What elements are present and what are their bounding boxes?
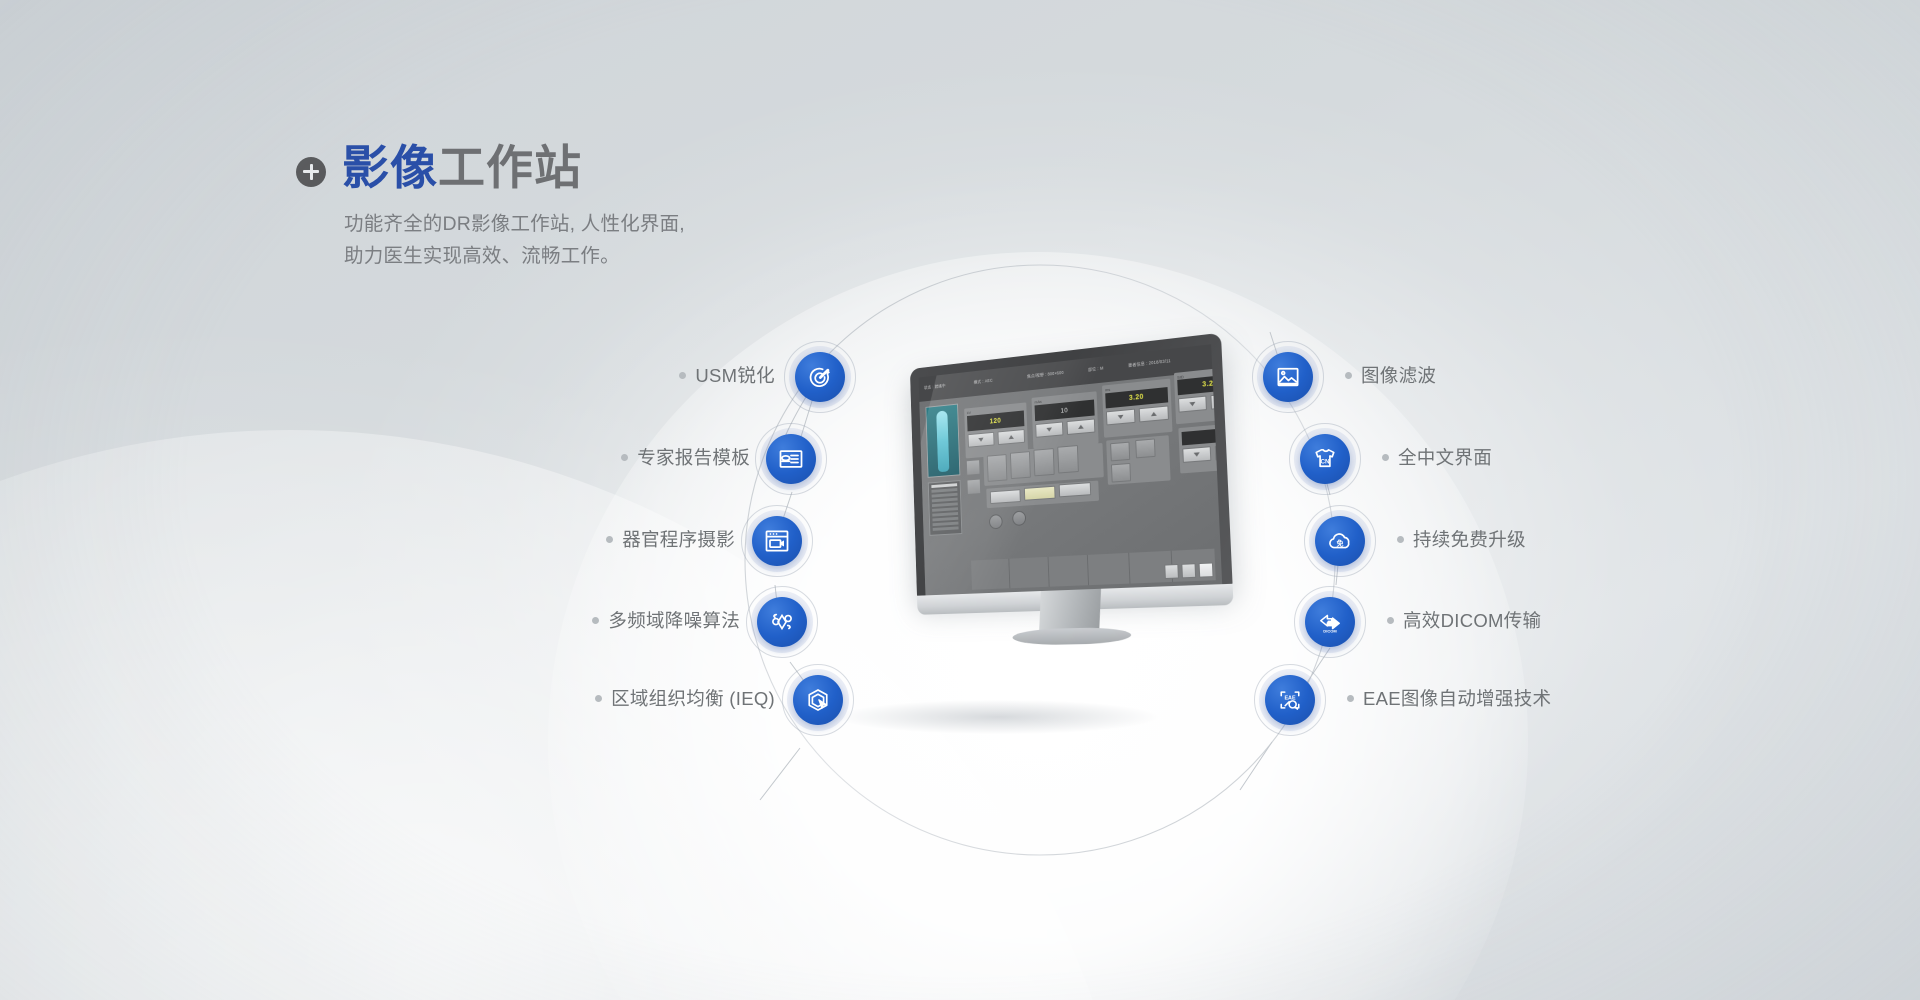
topbar-item-1: 模式 : AEC xyxy=(974,378,993,386)
save-icon[interactable] xyxy=(1164,564,1179,579)
posture-option-4[interactable] xyxy=(1057,445,1079,473)
svg-text:DICOM: DICOM xyxy=(1323,629,1337,634)
label-bullet xyxy=(1382,454,1389,461)
screen-action-buttons[interactable] xyxy=(1164,562,1213,579)
power-icon[interactable] xyxy=(989,514,1003,529)
feature-label-text: 持续免费升级 xyxy=(1413,526,1526,552)
ms-increase-button[interactable] xyxy=(1139,405,1169,422)
feature-label-free-upgrade: 持续免费升级 xyxy=(1397,526,1526,552)
feature-label-tissue-equalization: 区域组织均衡 (IEQ) xyxy=(455,685,775,711)
page-title-row: 影像工作站 xyxy=(296,143,1044,192)
headline-block: 影像工作站 功能齐全的DR影像工作站, 人性化界面, 助力医生实现高效、流畅工作… xyxy=(344,143,1044,273)
feature-node-image-filter[interactable] xyxy=(1263,352,1313,402)
monitor-bezel: 状态 : 就绪中 模式 : AEC 焦点/视野 : 800×600 部位 : M… xyxy=(910,333,1233,598)
topbar-item-0: 状态 : 就绪中 xyxy=(924,383,946,391)
mas-label: mAs xyxy=(1034,399,1041,405)
label-bullet xyxy=(1387,617,1394,624)
feature-label-report-template: 专家报告模板 xyxy=(470,444,750,470)
feature-label-text: 专家报告模板 xyxy=(637,444,750,470)
organ-program-imaging-icon xyxy=(752,516,802,566)
feature-label-text: 器官程序摄影 xyxy=(622,526,735,552)
feature-label-text: 图像滤波 xyxy=(1361,362,1436,388)
kv-decrease-button[interactable] xyxy=(968,432,995,448)
study-list-panel[interactable] xyxy=(928,480,962,536)
feature-label-dicom-transfer: 高效DICOM传输 xyxy=(1387,607,1541,633)
svg-text:CN: CN xyxy=(1320,459,1330,466)
eae-auto-enhance-icon: EAE xyxy=(1265,675,1315,725)
screen-body: kV 120 mAs 10 ms 3.20 SID 3.2 xyxy=(919,371,1222,597)
topbar-item-4: 患者信息 : 2018/03/11 xyxy=(1128,358,1171,369)
page-title-highlight: 影像 xyxy=(342,141,438,194)
feature-label-text: 全中文界面 xyxy=(1398,444,1492,470)
view-toggle-2[interactable] xyxy=(967,479,982,495)
page-subtitle-line-2: 助力医生实现高效、流畅工作。 xyxy=(344,241,1044,273)
topbar-item-3: 部位 : M xyxy=(1088,365,1104,373)
chinese-ui-shirt-icon: CN xyxy=(1300,434,1350,484)
page-title: 影像工作站 xyxy=(342,143,582,192)
feature-label-text: 高效DICOM传输 xyxy=(1403,607,1541,633)
image-filter-icon xyxy=(1263,352,1313,402)
label-bullet xyxy=(592,617,599,624)
topbar-item-2: 焦点/视野 : 800×600 xyxy=(1027,370,1064,380)
label-bullet xyxy=(606,536,613,543)
tissue-equalization-icon xyxy=(793,675,843,725)
feature-node-organ-program[interactable] xyxy=(752,516,802,566)
page-subtitle: 功能齐全的DR影像工作站, 人性化界面, 助力医生实现高效、流畅工作。 xyxy=(344,209,1044,272)
label-bullet xyxy=(621,454,628,461)
page-title-rest: 工作站 xyxy=(438,141,582,194)
feature-node-tissue-equalization[interactable] xyxy=(793,675,843,725)
label-bullet xyxy=(595,695,602,702)
free-upgrade-cloud-icon: 免 xyxy=(1315,516,1365,566)
mas-increase-button[interactable] xyxy=(1067,418,1096,435)
home-icon[interactable] xyxy=(1199,562,1214,577)
kv-increase-button[interactable] xyxy=(998,429,1025,445)
feature-label-chinese-ui: 全中文界面 xyxy=(1382,444,1492,470)
human-body-figure xyxy=(936,410,949,472)
posture-option-2[interactable] xyxy=(1010,451,1031,479)
feature-label-usm-sharpen: USM锐化 xyxy=(520,362,775,388)
feature-label-text: 区域组织均衡 (IEQ) xyxy=(611,685,775,711)
plus-circle-icon xyxy=(296,157,326,187)
sid-increase-button[interactable] xyxy=(1210,392,1222,409)
monitor-screen: 状态 : 就绪中 模式 : AEC 焦点/视野 : 800×600 部位 : M… xyxy=(919,344,1223,597)
feature-label-text: USM锐化 xyxy=(695,362,775,388)
label-bullet xyxy=(679,372,686,379)
dicom-transfer-icon: DICOM xyxy=(1305,597,1355,647)
detector-cell-1[interactable] xyxy=(1110,442,1130,462)
monitor-neck xyxy=(1039,589,1101,633)
export-icon[interactable] xyxy=(1181,563,1196,578)
mode-tab-enhanced[interactable] xyxy=(1024,486,1056,501)
feature-node-report-template[interactable] xyxy=(766,434,816,484)
usm-sharpen-icon xyxy=(795,352,845,402)
mode-tab-standard[interactable] xyxy=(990,489,1021,504)
feature-label-text: 多频域降噪算法 xyxy=(608,607,740,633)
kv-label: kV xyxy=(967,410,971,415)
view-toggle-1[interactable] xyxy=(966,459,981,476)
label-bullet xyxy=(1397,536,1404,543)
posture-option-1[interactable] xyxy=(987,454,1008,482)
mas-decrease-button[interactable] xyxy=(1035,421,1063,437)
feature-label-eae-enhance: EAE图像自动增强技术 xyxy=(1347,685,1551,711)
collimator-icon[interactable] xyxy=(1012,511,1026,527)
sid-decrease-button[interactable] xyxy=(1178,396,1207,413)
feature-label-organ-program: 器官程序摄影 xyxy=(455,526,735,552)
mode-tab-custom[interactable] xyxy=(1059,482,1091,497)
posture-option-3[interactable] xyxy=(1033,448,1054,476)
aux-decrease-button[interactable] xyxy=(1182,446,1211,463)
ms-decrease-button[interactable] xyxy=(1106,409,1136,426)
feature-label-image-filter: 图像滤波 xyxy=(1345,362,1436,388)
detector-cell-2[interactable] xyxy=(1135,438,1155,458)
label-bullet xyxy=(1347,695,1354,702)
feature-label-multi-frequency-denoise: 多频域降噪算法 xyxy=(450,607,740,633)
aux-increase-button[interactable] xyxy=(1215,443,1222,460)
feature-node-free-upgrade[interactable]: 免 xyxy=(1315,516,1365,566)
patient-body-thumbnail[interactable] xyxy=(925,404,960,478)
feature-node-multi-frequency-denoise[interactable] xyxy=(757,597,807,647)
detector-cell-3[interactable] xyxy=(1111,463,1131,483)
feature-node-eae-enhance[interactable]: EAE xyxy=(1265,675,1315,725)
multi-frequency-denoise-icon xyxy=(757,597,807,647)
dr-imaging-workstation-monitor: 状态 : 就绪中 模式 : AEC 焦点/视野 : 800×600 部位 : M… xyxy=(910,333,1235,644)
feature-node-usm-sharpen[interactable] xyxy=(795,352,845,402)
ms-label: ms xyxy=(1105,387,1110,393)
feature-label-text: EAE图像自动增强技术 xyxy=(1363,685,1551,711)
svg-text:免: 免 xyxy=(1337,538,1344,547)
label-bullet xyxy=(1345,372,1352,379)
feature-node-dicom-transfer[interactable]: DICOM xyxy=(1305,597,1355,647)
monitor-drop-shadow xyxy=(838,700,1158,734)
page-subtitle-line-1: 功能齐全的DR影像工作站, 人性化界面, xyxy=(344,209,1044,241)
report-template-icon xyxy=(766,434,816,484)
feature-node-chinese-ui[interactable]: CN xyxy=(1300,434,1350,484)
